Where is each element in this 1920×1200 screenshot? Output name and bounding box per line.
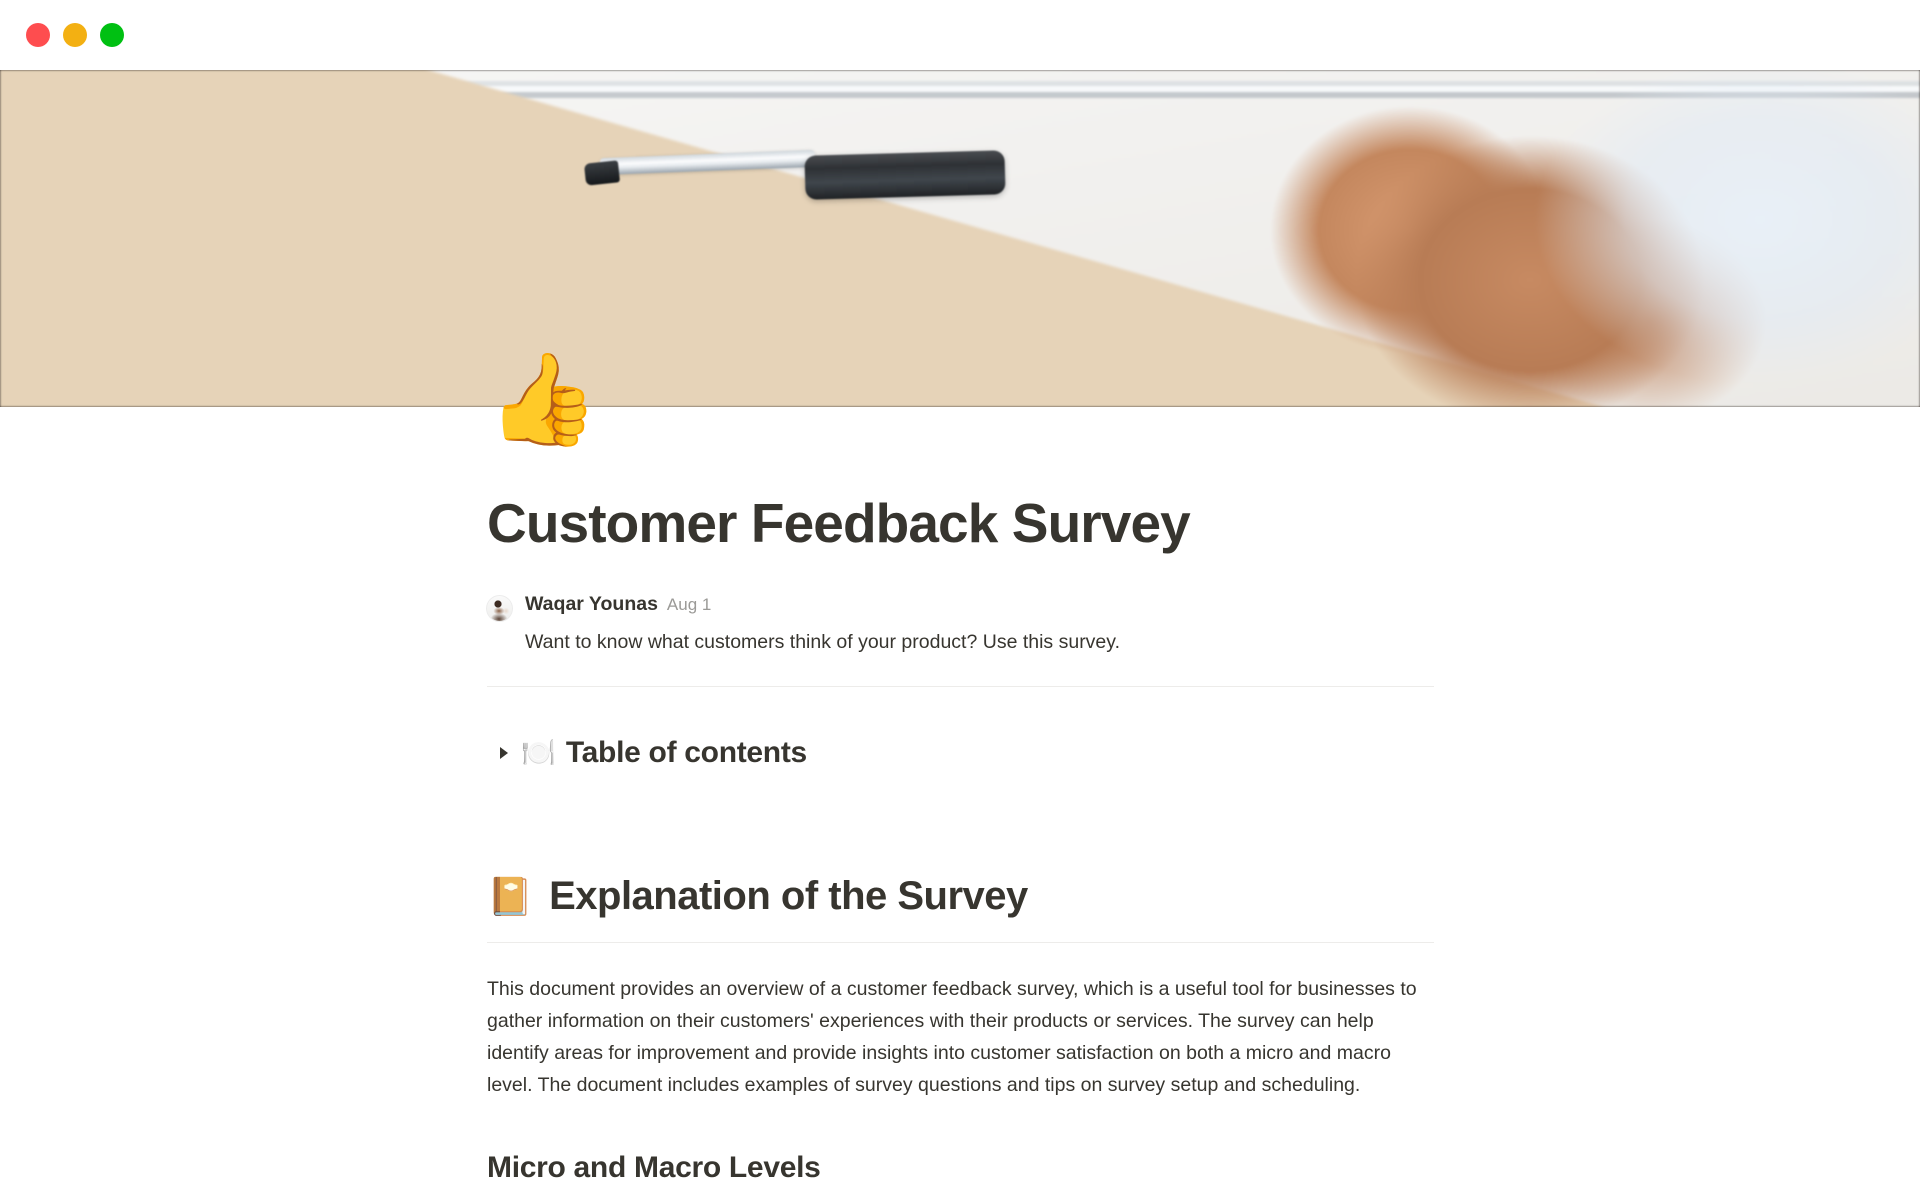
- page-subtitle[interactable]: Want to know what customers think of you…: [525, 628, 1120, 657]
- plate-with-cutlery-icon: 🍽️: [521, 739, 556, 767]
- section-heading-explanation[interactable]: 📔 Explanation of the Survey: [487, 874, 1434, 919]
- notebook-icon: 📔: [487, 878, 533, 915]
- divider-under-section-heading: [487, 942, 1434, 943]
- toggle-block-table-of-contents[interactable]: 🍽️ Table of contents: [487, 736, 1434, 770]
- avatar-photo: [487, 596, 512, 621]
- subsection-heading-micro-macro-levels[interactable]: Micro and Macro Levels: [487, 1151, 1434, 1185]
- close-window-button[interactable]: [26, 23, 50, 47]
- window-titlebar: [0, 0, 1920, 70]
- author-text-group: Waqar Younas Aug 1 Want to know what cus…: [525, 593, 1120, 657]
- section-paragraph[interactable]: This document provides an overview of a …: [487, 973, 1434, 1101]
- author-line: Waqar Younas Aug 1: [525, 593, 1120, 616]
- divider-under-author: [487, 686, 1434, 687]
- avatar[interactable]: [487, 596, 512, 621]
- page-icon-thumbs-up-icon[interactable]: 👍: [487, 355, 599, 445]
- pen-tip-art: [584, 160, 620, 185]
- author-date: Aug 1: [667, 595, 711, 615]
- pen-grip-art: [804, 150, 1005, 200]
- section-heading-text[interactable]: Explanation of the Survey: [549, 874, 1028, 919]
- maximize-window-button[interactable]: [100, 23, 124, 47]
- page-title[interactable]: Customer Feedback Survey: [487, 493, 1434, 555]
- window-traffic-lights: [26, 23, 124, 47]
- cover-photo-art: [0, 70, 1920, 407]
- app-window: 👍 Customer Feedback Survey Waqar Younas …: [0, 0, 1920, 1200]
- author-block: Waqar Younas Aug 1 Want to know what cus…: [487, 593, 1434, 657]
- author-name[interactable]: Waqar Younas: [525, 593, 658, 616]
- toggle-label-table-of-contents[interactable]: Table of contents: [566, 736, 807, 770]
- chevron-right-icon[interactable]: [487, 746, 521, 760]
- minimize-window-button[interactable]: [63, 23, 87, 47]
- document-body: Customer Feedback Survey Waqar Younas Au…: [0, 407, 1920, 1185]
- page-cover-image[interactable]: [0, 70, 1920, 407]
